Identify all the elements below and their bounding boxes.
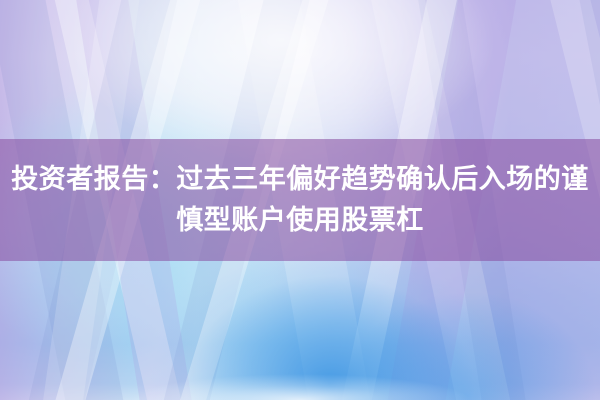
caption-band: 投资者报告：过去三年偏好趋势确认后入场的谨慎型账户使用股票杠 (0, 139, 600, 261)
banner-image: 投资者报告：过去三年偏好趋势确认后入场的谨慎型账户使用股票杠 (0, 0, 600, 400)
headline-text: 投资者报告：过去三年偏好趋势确认后入场的谨慎型账户使用股票杠 (0, 159, 600, 241)
